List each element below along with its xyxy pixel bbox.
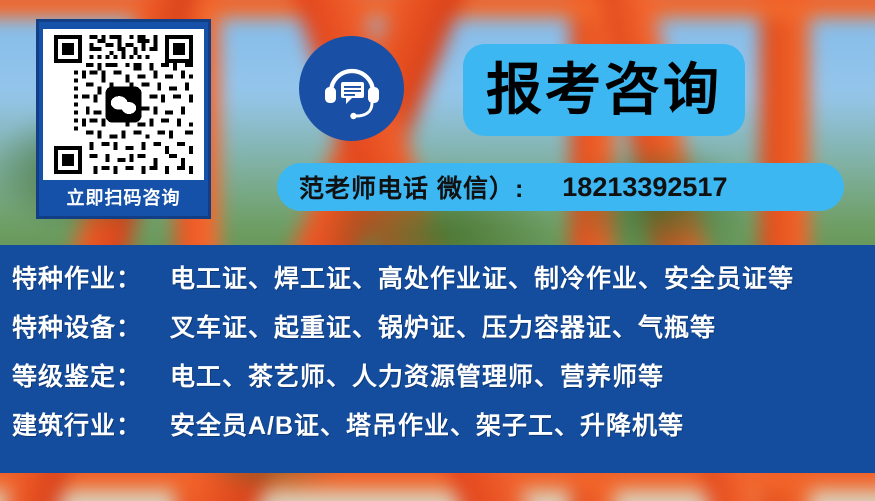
headset-icon-glyph	[319, 56, 385, 122]
headset-support-icon	[299, 36, 404, 141]
service-row: 特种作业： 电工证、焊工证、高处作业证、制冷作业、安全员证等	[0, 259, 875, 308]
qr-code-card[interactable]: 立即扫码咨询	[36, 19, 211, 219]
service-items-label: 叉车证、起重证、锅炉证、压力容器证、气瓶等	[170, 308, 716, 344]
contact-label: 范老师电话 微信）:	[299, 169, 524, 205]
service-category-label: 特种作业：	[12, 259, 170, 295]
service-row: 建筑行业： 安全员A/B证、塔吊作业、架子工、升降机等	[0, 406, 875, 455]
advertisement-poster: 立即扫码咨询 报考咨询 范老师电话 微信）:	[0, 0, 875, 501]
service-category-label: 特种设备：	[12, 308, 170, 344]
qr-code-caption: 立即扫码咨询	[67, 180, 181, 216]
service-items-label: 电工、茶艺师、人力资源管理师、营养师等	[170, 357, 664, 393]
title-banner: 报考咨询	[463, 44, 745, 136]
contact-banner[interactable]: 范老师电话 微信）: 18213392517	[277, 163, 844, 211]
qr-code-image[interactable]	[43, 29, 204, 180]
services-panel: 特种作业： 电工证、焊工证、高处作业证、制冷作业、安全员证等 特种设备： 叉车证…	[0, 245, 875, 473]
contact-phone-number[interactable]: 18213392517	[562, 172, 727, 203]
wechat-qr-code-icon	[50, 31, 197, 178]
service-row: 等级鉴定： 电工、茶艺师、人力资源管理师、营养师等	[0, 357, 875, 406]
page-title: 报考咨询	[486, 62, 722, 118]
service-category-label: 建筑行业：	[12, 406, 170, 442]
service-category-label: 等级鉴定：	[12, 357, 170, 393]
service-row: 特种设备： 叉车证、起重证、锅炉证、压力容器证、气瓶等	[0, 308, 875, 357]
service-items-label: 安全员A/B证、塔吊作业、架子工、升降机等	[170, 406, 684, 442]
service-items-label: 电工证、焊工证、高处作业证、制冷作业、安全员证等	[170, 259, 794, 295]
